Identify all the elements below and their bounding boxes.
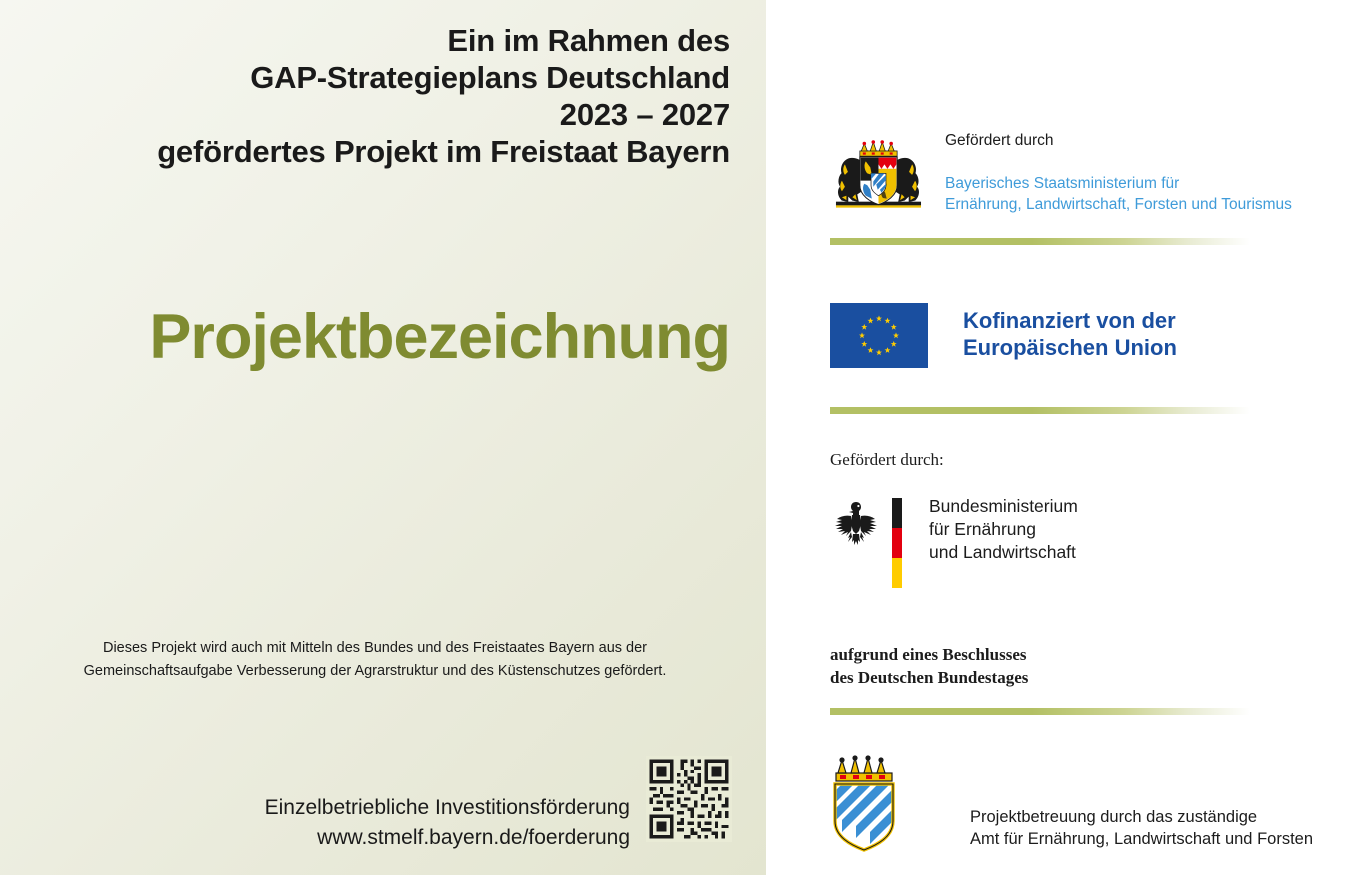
funding-note-line-1: Dieses Projekt wird auch mit Mitteln des… (20, 637, 730, 660)
bayern-shield-icon (830, 753, 898, 853)
eu-text-line-1: Kofinanziert von der (963, 307, 1177, 334)
section-divider-1 (830, 238, 1250, 245)
bmel-logo: Bundesministerium für Ernährung und Land… (830, 498, 1060, 608)
bmel-funded-by-label: Gefördert durch: (830, 449, 944, 471)
headline-line-3: 2023 – 2027 (20, 96, 730, 133)
page-title: Projektbezeichnung (20, 302, 730, 372)
bundestag-line-1: aufgrund eines Beschlusses (830, 643, 1028, 666)
bmel-name-line-1: Bundesministerium (929, 495, 1078, 518)
bmel-name: Bundesministerium für Ernährung und Land… (929, 495, 1078, 564)
eu-text: Kofinanziert von der Europäischen Union (963, 307, 1177, 361)
flag-bar-gold (892, 558, 902, 588)
headline-line-4: gefördertes Projekt im Freistaat Bayern (20, 133, 730, 170)
headline-line-1: Ein im Rahmen des (20, 22, 730, 59)
stmelf-name-line-1: Bayerisches Staatsministerium für (945, 173, 1292, 194)
footer-website-link[interactable]: www.stmelf.bayern.de/foerderung (30, 823, 630, 853)
aelf-text-line-1: Projektbetreuung durch das zuständige (970, 806, 1313, 828)
poster: Ein im Rahmen des GAP-Strategieplans Deu… (0, 0, 1352, 875)
bundestag-resolution-text: aufgrund eines Beschlusses des Deutschen… (830, 643, 1028, 689)
german-flag-bar-icon (892, 498, 902, 588)
stmelf-text: Gefördert durch Bayerisches Staatsminist… (945, 131, 1292, 215)
bundestag-line-2: des Deutschen Bundestages (830, 666, 1028, 689)
bmel-name-line-3: und Landwirtschaft (929, 541, 1078, 564)
stmelf-name-line-2: Ernährung, Landwirtschaft, Forsten und T… (945, 194, 1292, 215)
footer-programme-label: Einzelbetriebliche Investitionsförderung (30, 793, 630, 823)
bundesadler-icon (830, 498, 882, 558)
bmel-name-line-2: für Ernährung (929, 518, 1078, 541)
footer-info: Einzelbetriebliche Investitionsförderung… (30, 793, 630, 853)
left-panel: Ein im Rahmen des GAP-Strategieplans Deu… (0, 0, 766, 875)
section-divider-3 (830, 708, 1250, 715)
flag-bar-black (892, 498, 902, 528)
aelf-text: Projektbetreuung durch das zuständige Am… (970, 806, 1313, 850)
funding-note: Dieses Projekt wird auch mit Mitteln des… (20, 637, 730, 683)
right-column: Gefördert durch Bayerisches Staatsminist… (766, 0, 1352, 875)
eu-flag-icon (830, 303, 928, 368)
bmel-funding-block: Gefördert durch: (830, 449, 944, 471)
eu-text-line-2: Europäischen Union (963, 334, 1177, 361)
funding-note-line-2: Gemeinschaftsaufgabe Verbesserung der Ag… (20, 660, 730, 683)
headline: Ein im Rahmen des GAP-Strategieplans Deu… (20, 22, 730, 170)
aelf-text-line-2: Amt für Ernährung, Landwirtschaft und Fo… (970, 828, 1313, 850)
section-divider-2 (830, 407, 1250, 414)
flag-bar-red (892, 528, 902, 558)
bayern-coat-of-arms-icon (830, 139, 927, 211)
qr-code-icon[interactable] (646, 756, 732, 842)
headline-line-2: GAP-Strategieplans Deutschland (20, 59, 730, 96)
stmelf-funded-by-label: Gefördert durch (945, 131, 1292, 151)
